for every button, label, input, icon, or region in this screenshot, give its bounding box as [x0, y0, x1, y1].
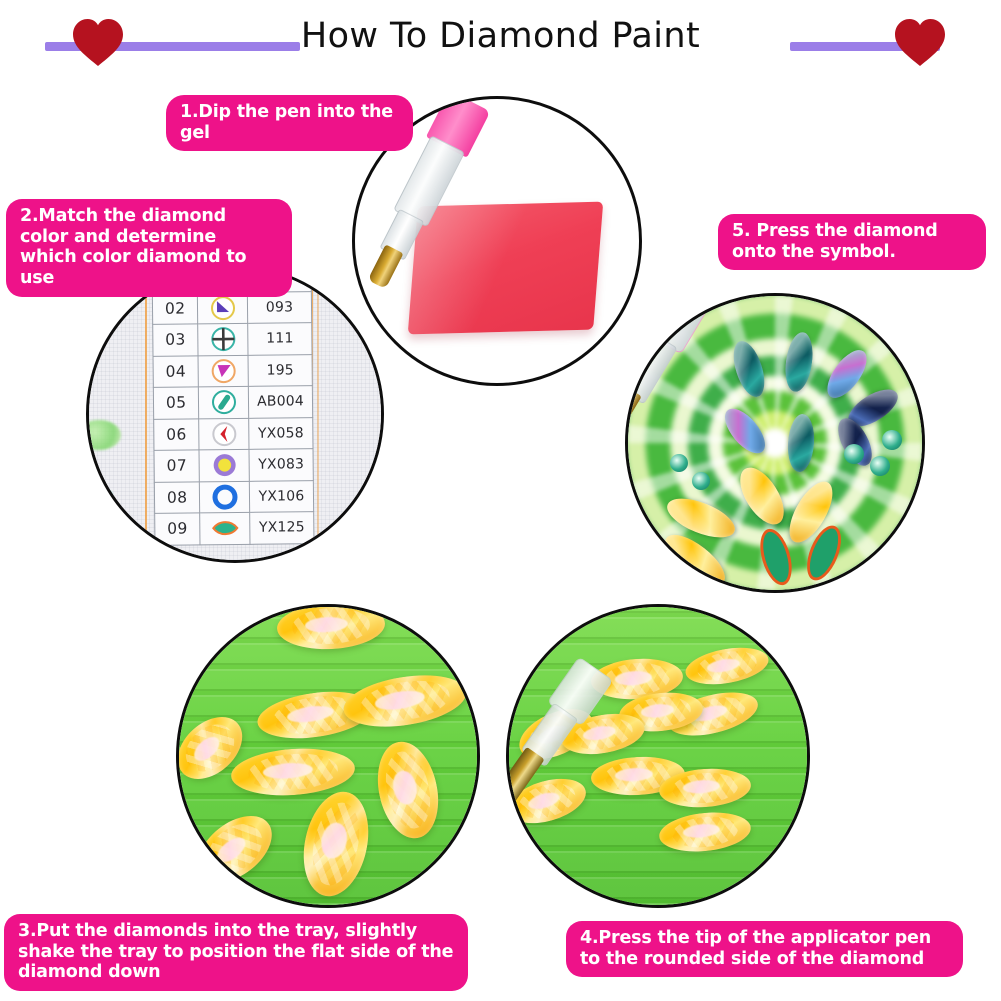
chart-code: YX058 [249, 417, 313, 449]
header: How To Diamond Paint [0, 0, 1001, 80]
photo-step-2-content: 028 02 093 03 [89, 268, 381, 560]
chart-number: 08 [154, 481, 200, 513]
chart-number: 02 [152, 292, 198, 324]
chart-symbol [199, 386, 249, 418]
photo-step-4-content [509, 607, 807, 905]
photo-step-5-content [628, 296, 922, 590]
chart-number: 05 [153, 387, 199, 419]
triangle-purple-icon [208, 293, 238, 323]
chart-code: AB004 [248, 386, 312, 418]
chart-symbol [199, 449, 249, 481]
mandala-round-gem [844, 444, 864, 464]
step-2-label: 2.Match the diamond color and determine … [6, 199, 292, 297]
leaf-icon [210, 513, 240, 543]
photo-step-3-content [179, 607, 477, 905]
chart-code: 111 [248, 323, 312, 355]
diagonal-capsule-icon [209, 387, 239, 417]
chart-number: 07 [154, 450, 200, 482]
chart-symbol [198, 323, 248, 355]
chart-symbol [198, 355, 248, 387]
filled-dot-icon [209, 450, 239, 480]
chart-code: YX083 [249, 449, 313, 481]
chart-number: 09 [155, 513, 201, 545]
infographic-canvas: How To Diamond Paint [0, 0, 1001, 1001]
table-row: 07 YX083 [154, 449, 313, 482]
page-title: How To Diamond Paint [0, 16, 1001, 56]
mandala-round-gem [882, 430, 902, 450]
chart-symbol [200, 512, 250, 544]
canvas-guide-line [317, 268, 319, 560]
chart-symbol [200, 481, 250, 513]
chart-code: YX125 [250, 512, 314, 544]
table-row: 04 195 [153, 354, 312, 387]
chart-symbol [199, 418, 249, 450]
mandala-round-gem [692, 472, 710, 490]
step-5-label: 5. Press the diamond onto the symbol. [718, 214, 986, 270]
table-row: 09 YX125 [155, 512, 314, 545]
chart-number: 04 [153, 355, 199, 387]
step-1-label: 1.Dip the pen into the gel [166, 95, 413, 151]
chevron-left-icon [209, 419, 239, 449]
photo-step-4 [506, 604, 810, 908]
ring-icon [210, 482, 240, 512]
chart-number: 03 [153, 324, 199, 356]
table-row: 06 YX058 [154, 417, 313, 450]
photo-step-3 [176, 604, 480, 908]
table-row: 05 AB004 [153, 386, 312, 419]
canvas-guide-line [145, 268, 147, 560]
photo-step-5 [625, 293, 925, 593]
triangle-magenta-icon [208, 356, 238, 386]
chart-symbol [198, 292, 248, 324]
mandala-round-gem [670, 454, 688, 472]
chart-number: 06 [154, 418, 200, 450]
step-3-label: 3.Put the diamonds into the tray, slight… [4, 914, 468, 991]
symbol-chart-table: 028 02 093 03 [152, 265, 315, 545]
step-4-label: 4.Press the tip of the applicator pen to… [566, 921, 963, 977]
chart-code: YX106 [249, 480, 313, 512]
table-row: 08 YX106 [154, 480, 313, 513]
plus-cross-icon [208, 324, 238, 354]
table-row: 03 111 [153, 323, 312, 356]
chart-code: 195 [248, 354, 312, 386]
photo-step-2: 028 02 093 03 [86, 265, 384, 563]
mandala-round-gem [870, 456, 890, 476]
